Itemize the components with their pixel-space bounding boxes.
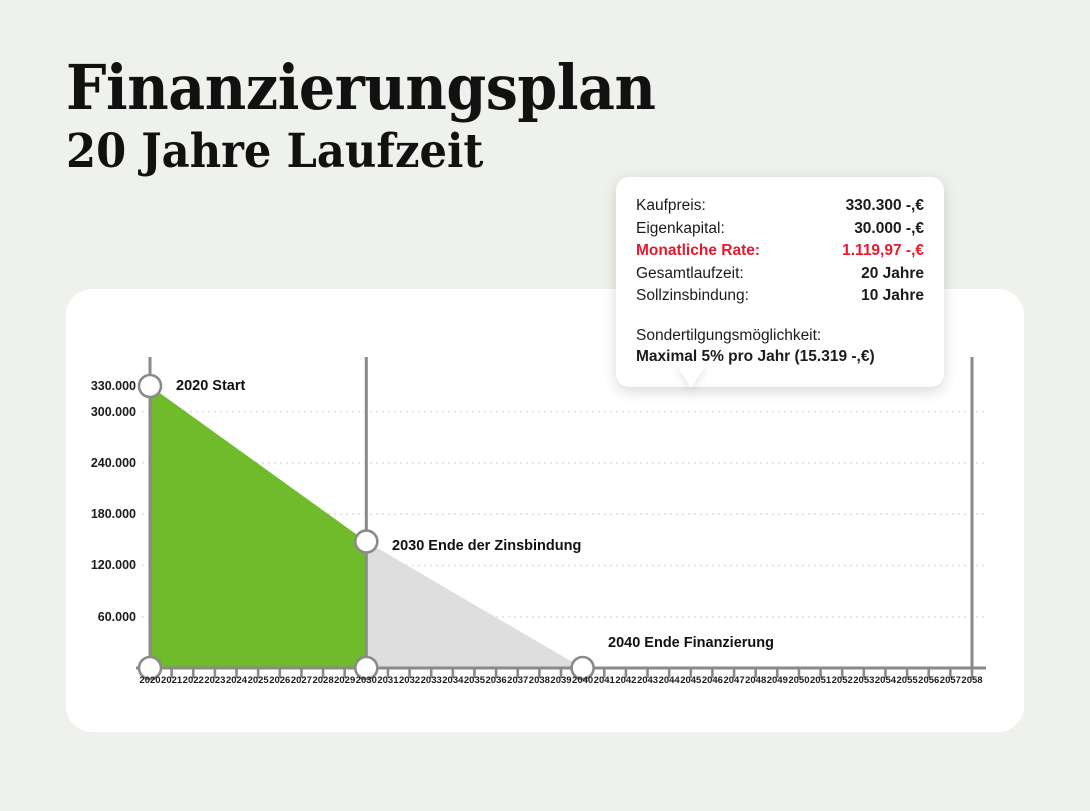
x-axis-tick-label: 2042 <box>615 675 636 686</box>
x-axis-tick-label: 2046 <box>702 675 723 686</box>
y-axis-tick-label: 330.000 <box>50 379 136 393</box>
page-title: Finanzierungsplan <box>66 56 710 120</box>
summary-row-label: Eigenkapital: <box>636 218 725 241</box>
x-axis-tick-label: 2038 <box>529 675 550 686</box>
x-axis-tick-label: 2043 <box>637 675 658 686</box>
sondertilgung-block: Sondertilgungsmöglichkeit: Maximal 5% pr… <box>636 325 924 367</box>
summary-row: Gesamtlaufzeit:20 Jahre <box>636 263 924 286</box>
x-axis-tick-label: 2035 <box>464 675 485 686</box>
x-axis-tick-label: 2053 <box>853 675 874 686</box>
summary-rows: Kaufpreis:330.300 -,€Eigenkapital:30.000… <box>636 195 924 308</box>
x-axis-tick-label: 2044 <box>659 675 680 686</box>
x-axis-tick-label: 2045 <box>680 675 701 686</box>
y-axis-tick-label: 120.000 <box>50 558 136 572</box>
x-axis-tick-label: 2030 <box>356 675 377 686</box>
summary-row: Kaufpreis:330.300 -,€ <box>636 195 924 218</box>
x-axis-tick-label: 2039 <box>550 675 571 686</box>
x-axis-tick-label: 2054 <box>875 675 896 686</box>
summary-row-value: 30.000 -,€ <box>854 218 924 241</box>
x-axis-tick-label: 2055 <box>897 675 918 686</box>
x-axis-tick-label: 2056 <box>918 675 939 686</box>
x-axis-tick-label: 2036 <box>486 675 507 686</box>
page-subtitle: 20 Jahre Laufzeit <box>66 126 710 178</box>
financing-summary-card: Kaufpreis:330.300 -,€Eigenkapital:30.000… <box>616 177 944 387</box>
x-axis-tick-label: 2031 <box>377 675 398 686</box>
x-axis-tick-label: 2033 <box>421 675 442 686</box>
annotation-2030-zinsbindung: 2030 Ende der Zinsbindung <box>392 538 581 554</box>
summary-row-value: 330.300 -,€ <box>846 195 924 218</box>
summary-row: Sollzinsbindung:10 Jahre <box>636 285 924 308</box>
y-axis-tick-label: 180.000 <box>50 507 136 521</box>
summary-row-value: 10 Jahre <box>861 285 924 308</box>
annotation-2020-start: 2020 Start <box>176 378 245 394</box>
x-axis-tick-label: 2048 <box>745 675 766 686</box>
x-axis-tick-label: 2047 <box>723 675 744 686</box>
x-axis-tick-label: 2058 <box>961 675 982 686</box>
x-axis-tick-label: 2022 <box>183 675 204 686</box>
summary-row: Eigenkapital:30.000 -,€ <box>636 218 924 241</box>
tooltip-pointer <box>676 364 706 388</box>
x-axis-tick-label: 2021 <box>161 675 182 686</box>
x-axis-labels: 2020202120222023202420252026202720282029… <box>0 675 1090 697</box>
x-axis-tick-label: 2040 <box>572 675 593 686</box>
x-axis-tick-label: 2041 <box>594 675 615 686</box>
x-axis-tick-label: 2027 <box>291 675 312 686</box>
x-axis-tick-label: 2034 <box>442 675 463 686</box>
x-axis-tick-label: 2024 <box>226 675 247 686</box>
summary-row-label: Kaufpreis: <box>636 195 706 218</box>
y-axis-tick-label: 240.000 <box>50 456 136 470</box>
x-axis-tick-label: 2026 <box>269 675 290 686</box>
x-axis-tick-label: 2029 <box>334 675 355 686</box>
summary-row-label: Monatliche Rate: <box>636 240 760 263</box>
x-axis-tick-label: 2050 <box>788 675 809 686</box>
x-axis-tick-label: 2037 <box>507 675 528 686</box>
summary-row-label: Gesamtlaufzeit: <box>636 263 744 286</box>
x-axis-tick-label: 2032 <box>399 675 420 686</box>
x-axis-tick-label: 2020 <box>139 675 160 686</box>
summary-row: Monatliche Rate:1.119,97 -,€ <box>636 240 924 263</box>
x-axis-tick-label: 2025 <box>248 675 269 686</box>
summary-row-value: 1.119,97 -,€ <box>842 240 924 263</box>
y-axis-tick-label: 300.000 <box>50 405 136 419</box>
x-axis-tick-label: 2023 <box>204 675 225 686</box>
x-axis-tick-label: 2028 <box>312 675 333 686</box>
y-axis-tick-label: 60.000 <box>50 610 136 624</box>
x-axis-tick-label: 2051 <box>810 675 831 686</box>
page-heading: Finanzierungsplan 20 Jahre Laufzeit <box>66 56 766 178</box>
summary-row-value: 20 Jahre <box>861 263 924 286</box>
sondertilgung-label: Sondertilgungsmöglichkeit: <box>636 325 924 346</box>
x-axis-tick-label: 2049 <box>767 675 788 686</box>
x-axis-tick-label: 2052 <box>832 675 853 686</box>
summary-row-label: Sollzinsbindung: <box>636 285 749 308</box>
annotation-2040-ende: 2040 Ende Finanzierung <box>608 635 774 651</box>
x-axis-tick-label: 2057 <box>940 675 961 686</box>
